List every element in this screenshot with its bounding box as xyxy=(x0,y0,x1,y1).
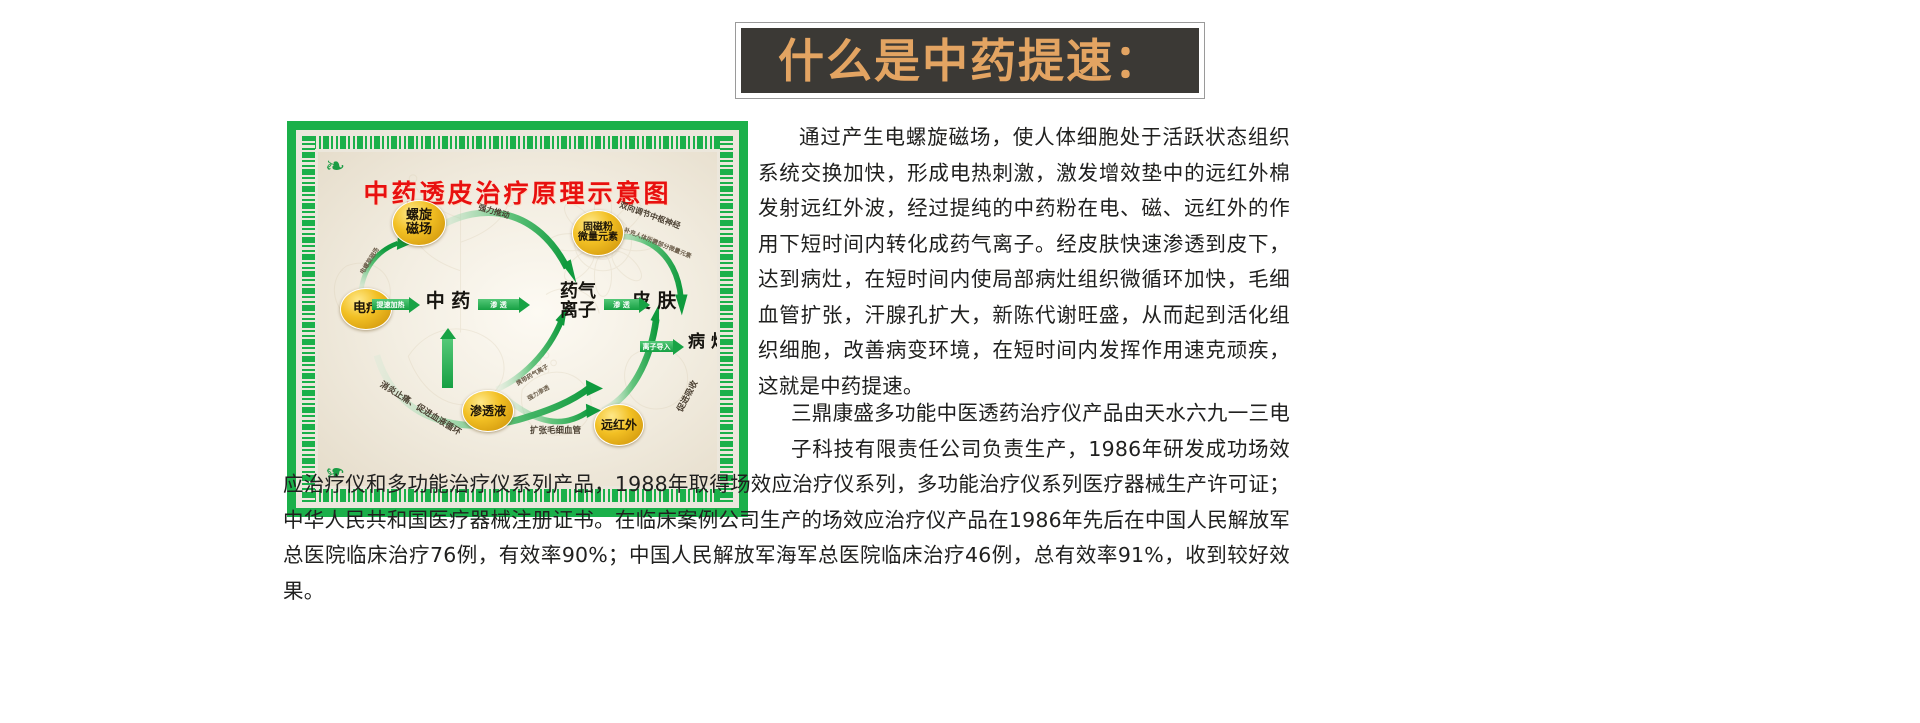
node-spiral-field: 螺旋磁场 xyxy=(392,200,446,246)
page-title: 什么是中药提速： xyxy=(778,38,1162,84)
poster-text-wrap-spacer xyxy=(283,396,791,432)
arrow-permeate-1: 渗 透 xyxy=(478,298,530,311)
arrow-shaft: 渗 透 xyxy=(604,299,639,310)
arrow-label: 离子导入 xyxy=(643,342,671,352)
arrow-head xyxy=(639,297,650,313)
company-paragraph: 三鼎康盛多功能中医透药治疗仪产品由天水六九一三电子科技有限责任公司负责生产，19… xyxy=(283,396,1290,609)
arrow-head xyxy=(409,297,420,313)
node-lesion: 病 灶 xyxy=(686,334,717,352)
node-drug-gas-ion: 药气离子 xyxy=(552,282,604,320)
arrow-speedup-heating: 提速加热 xyxy=(372,298,420,311)
arrow-permeate-2: 渗 透 xyxy=(604,298,650,311)
node-magnet-powder-label: 固磁粉微量元素 xyxy=(578,223,618,244)
arrow-head xyxy=(519,297,530,313)
arrow-shaft: 离子导入 xyxy=(640,341,673,352)
arrow-label: 渗 透 xyxy=(613,300,629,310)
fret-border-top xyxy=(302,136,733,149)
arrow-ion-introduction: 离子导入 xyxy=(640,340,684,353)
node-spiral-field-label: 螺旋磁场 xyxy=(406,209,432,236)
arrow-shaft: 渗 透 xyxy=(478,299,519,310)
node-chinese-medicine: 中 药 xyxy=(422,292,474,312)
arrow-head xyxy=(673,339,684,355)
arrow-label: 渗 透 xyxy=(490,300,506,310)
page-title-inner: 什么是中药提速： xyxy=(741,28,1199,93)
arrow-head xyxy=(440,328,456,339)
node-magnet-powder: 固磁粉微量元素 xyxy=(572,210,624,256)
arrow-shaft: 提速加热 xyxy=(372,299,409,310)
arrow-penetrant-to-medicine xyxy=(441,328,454,388)
intro-paragraph: 通过产生电螺旋磁场，使人体细胞处于活跃状态组织系统交换加快，形成电热刺激，激发增… xyxy=(758,120,1290,404)
arrow-label: 提速加热 xyxy=(377,300,405,310)
page-title-banner: 什么是中药提速： xyxy=(735,22,1205,99)
arrow-shaft xyxy=(442,339,453,388)
